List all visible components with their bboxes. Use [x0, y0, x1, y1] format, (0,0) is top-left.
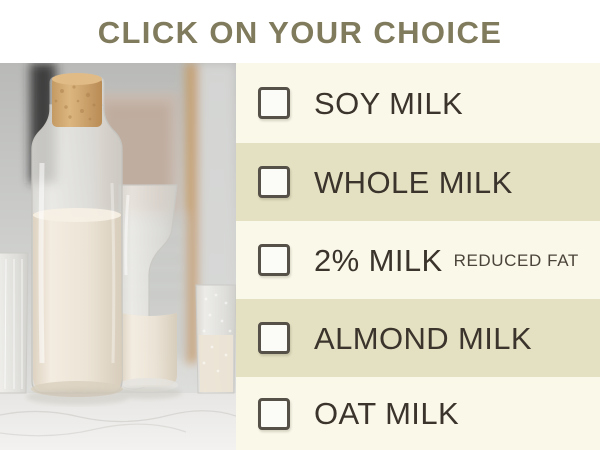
option-sublabel-two-percent: REDUCED FAT [454, 252, 579, 269]
option-label-almond-milk: ALMOND MILK [314, 323, 532, 354]
option-row-soy-milk[interactable]: SOY MILK [236, 63, 600, 143]
option-label-oat-milk: OAT MILK [314, 398, 459, 429]
option-row-oat-milk[interactable]: OAT MILK [236, 377, 600, 450]
option-row-whole-milk[interactable]: WHOLE MILK [236, 143, 600, 221]
choice-screen: CLICK ON YOUR CHOICE [0, 0, 600, 450]
checkbox-whole-milk[interactable] [258, 166, 290, 198]
option-row-almond-milk[interactable]: ALMOND MILK [236, 299, 600, 377]
checkbox-almond-milk[interactable] [258, 322, 290, 354]
option-label-soy-milk: SOY MILK [314, 88, 463, 119]
milk-photo [0, 63, 236, 450]
milk-photo-illustration [0, 63, 236, 450]
option-label-two-percent: 2% MILK [314, 245, 443, 276]
header: CLICK ON YOUR CHOICE [0, 0, 600, 63]
checkbox-two-percent[interactable] [258, 244, 290, 276]
body-area: SOY MILK WHOLE MILK 2% MILK REDUCED FAT … [0, 63, 600, 450]
option-label-whole-milk: WHOLE MILK [314, 167, 513, 198]
checkbox-oat-milk[interactable] [258, 398, 290, 430]
page-title: CLICK ON YOUR CHOICE [98, 15, 503, 48]
option-row-two-percent[interactable]: 2% MILK REDUCED FAT [236, 221, 600, 299]
checkbox-soy-milk[interactable] [258, 87, 290, 119]
choice-list: SOY MILK WHOLE MILK 2% MILK REDUCED FAT … [236, 63, 600, 450]
